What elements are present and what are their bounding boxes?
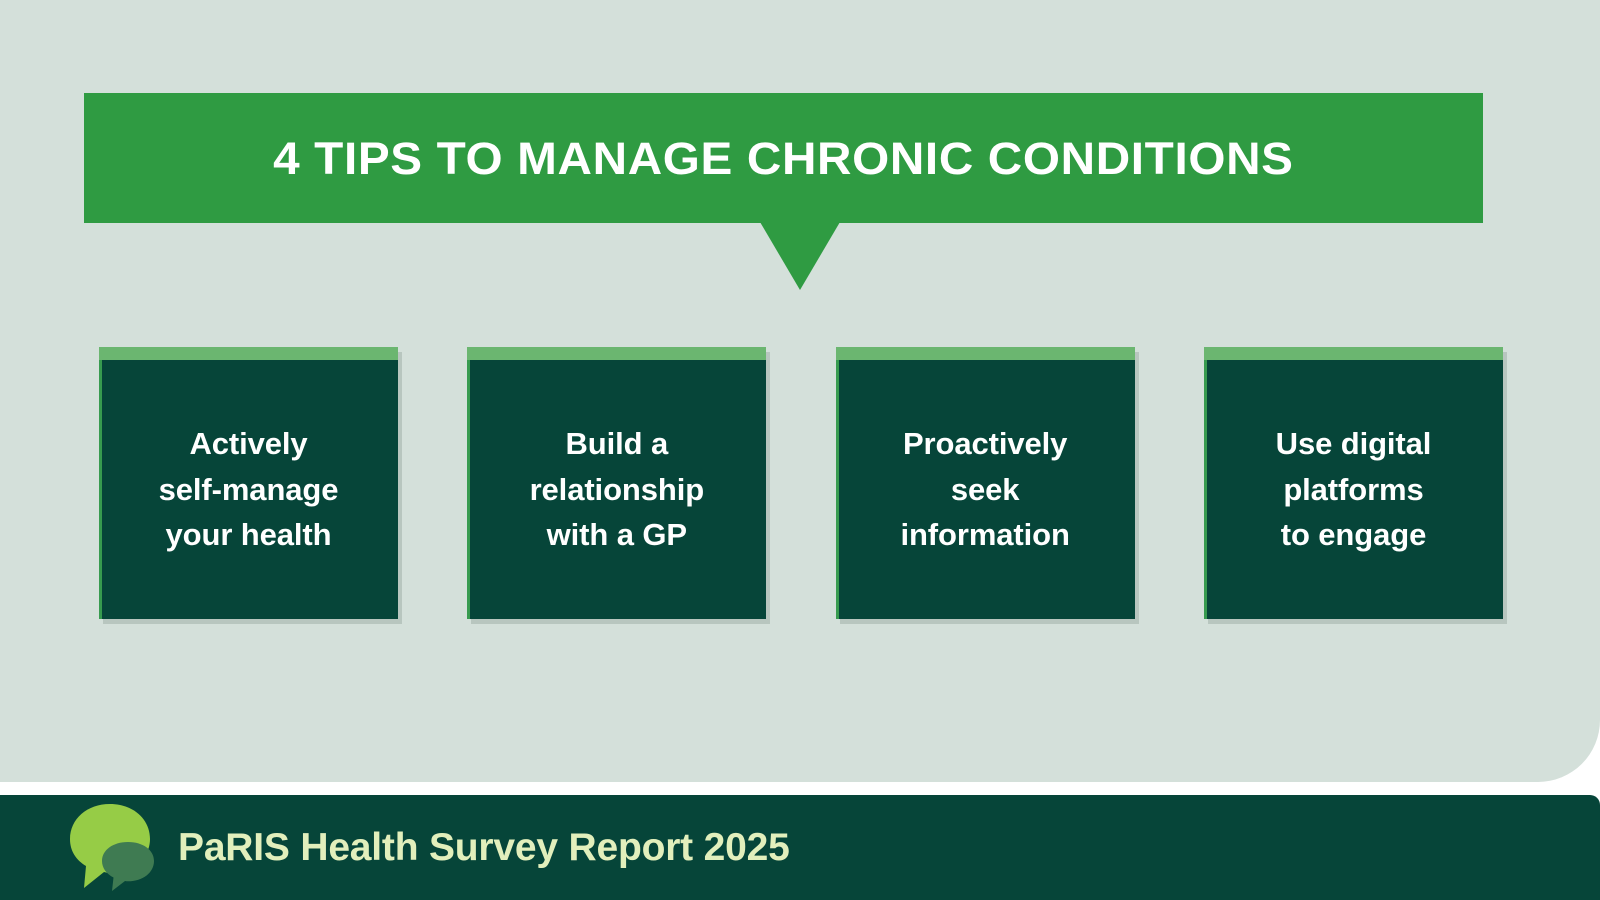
title-banner-body: 4 TIPS TO MANAGE CHRONIC CONDITIONS [84,93,1483,223]
tip-card-3[interactable]: Proactively seek information [836,347,1135,619]
tip-card-4[interactable]: Use digital platforms to engage [1204,347,1503,619]
tip-card-label: Use digital platforms to engage [1204,360,1503,619]
tip-card-label: Actively self-manage your health [99,360,398,619]
footer-content: PaRIS Health Survey Report 2025 [62,795,790,900]
card-accent-bar [1204,347,1503,360]
card-accent-bar [99,347,398,360]
footer-report-title: PaRIS Health Survey Report 2025 [178,828,790,867]
speech-bubble-icon [62,798,158,894]
banner-pointer-triangle-icon [760,222,840,290]
tip-card-1[interactable]: Actively self-manage your health [99,347,398,619]
tips-card-row: Actively self-manage your health Build a… [99,347,1503,619]
infographic-poster: 4 TIPS TO MANAGE CHRONIC CONDITIONS Acti… [0,0,1600,900]
speech-bubble-small [102,842,154,891]
footer-bar: PaRIS Health Survey Report 2025 [0,795,1600,900]
card-accent-bar [467,347,766,360]
page-title: 4 TIPS TO MANAGE CHRONIC CONDITIONS [273,136,1293,181]
tip-card-label: Proactively seek information [836,360,1135,619]
paris-speech-bubbles-logo [62,798,158,894]
tip-card-2[interactable]: Build a relationship with a GP [467,347,766,619]
title-banner: 4 TIPS TO MANAGE CHRONIC CONDITIONS [84,93,1483,223]
tip-card-label: Build a relationship with a GP [467,360,766,619]
card-accent-bar [836,347,1135,360]
